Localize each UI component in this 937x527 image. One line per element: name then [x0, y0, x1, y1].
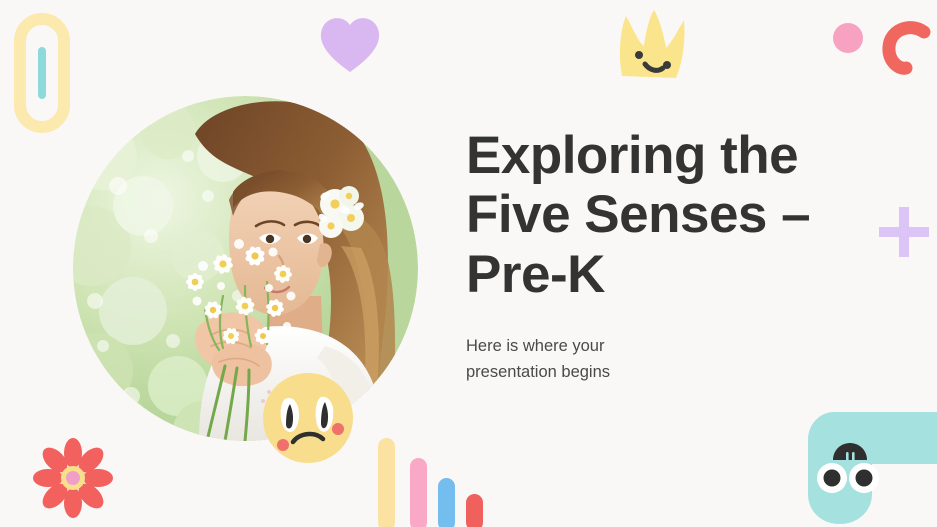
crown-face-icon — [612, 8, 690, 86]
sad-emoji-icon — [263, 373, 353, 463]
presentation-slide: Exploring the Five Senses – Pre-K Here i… — [0, 0, 937, 527]
flower-icon — [36, 441, 110, 515]
teal-blob-face-decoration — [806, 412, 937, 527]
heart-icon — [316, 14, 384, 74]
arc-decoration — [880, 20, 934, 74]
title-block: Exploring the Five Senses – Pre-K Here i… — [466, 126, 846, 385]
pink-dot-decoration — [833, 23, 863, 53]
subtitle-text: Here is where your presentation begins — [466, 334, 846, 385]
pill-outline-decoration — [14, 13, 70, 133]
page-title: Exploring the Five Senses – Pre-K — [466, 126, 846, 304]
bar-chart-decoration — [374, 436, 494, 527]
plus-icon — [879, 207, 929, 257]
hero-photo — [73, 96, 418, 441]
